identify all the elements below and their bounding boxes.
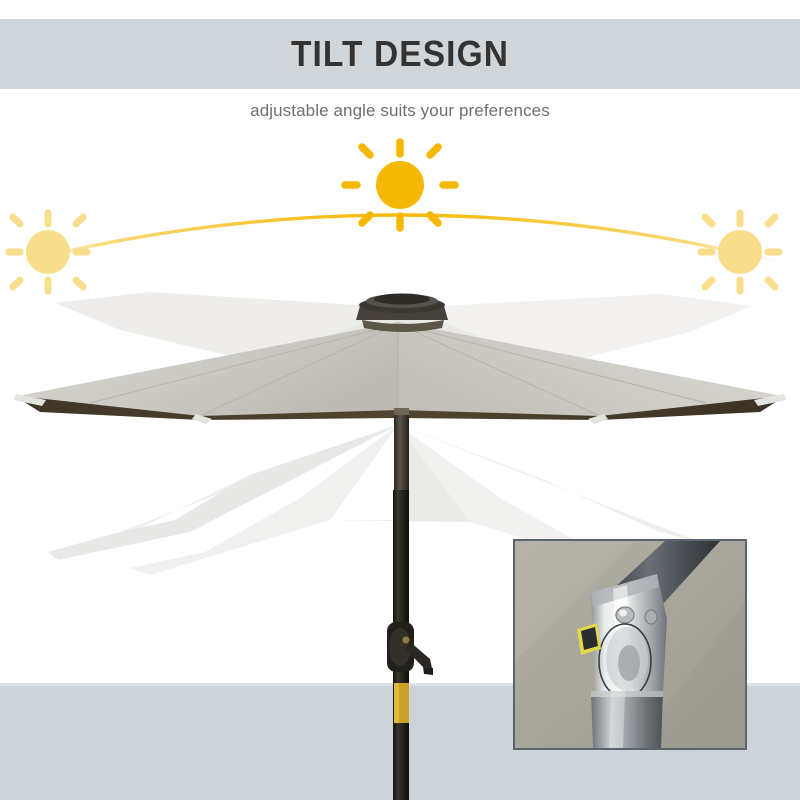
- page-subtitle: adjustable angle suits your preferences: [0, 101, 800, 121]
- pole-upper-collar: [394, 408, 409, 415]
- page-title: TILT DESIGN: [28, 19, 772, 89]
- product-feature-graphic: TILT DESIGN adjustable angle suits your …: [0, 0, 800, 800]
- inset-lower-pole: [591, 691, 663, 748]
- tilt-mechanism-inset: [513, 539, 747, 750]
- pole-upper-segment: [394, 410, 409, 500]
- tilt-mechanism-photo: [515, 541, 745, 748]
